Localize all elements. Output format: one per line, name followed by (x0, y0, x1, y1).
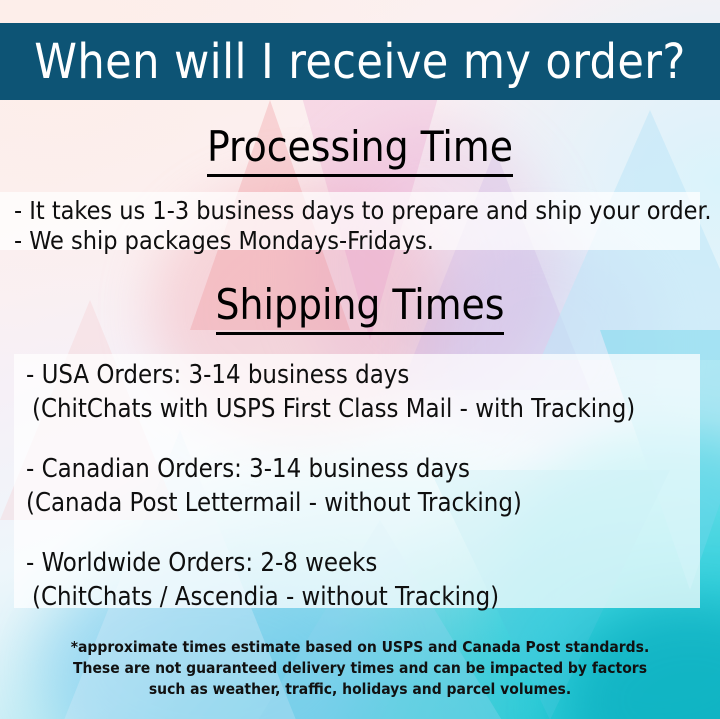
disclaimer-note: *approximate times estimate based on USP… (0, 637, 720, 700)
processing-line: - It takes us 1-3 business days to prepa… (14, 196, 712, 226)
shipping-times-heading-text: Shipping Times (216, 280, 505, 335)
shipping-group-title: - Worldwide Orders: 2-8 weeks (26, 546, 499, 580)
processing-time-lines: - It takes us 1-3 business days to prepa… (14, 196, 712, 256)
shipping-group-detail: (ChitChats / Ascendia - without Tracking… (26, 580, 499, 614)
shipping-group-usa: - USA Orders: 3-14 business days (ChitCh… (26, 358, 635, 426)
shipping-times-heading: Shipping Times (0, 284, 720, 326)
infographic-canvas: When will I receive my order? Processing… (0, 0, 720, 719)
shipping-group-detail: (Canada Post Lettermail - without Tracki… (26, 486, 522, 520)
processing-time-heading: Processing Time (0, 126, 720, 168)
shipping-group-title: - Canadian Orders: 3-14 business days (26, 452, 522, 486)
processing-line: - We ship packages Mondays-Fridays. (14, 226, 712, 256)
disclaimer-line: These are not guaranteed delivery times … (0, 658, 720, 679)
page-title: When will I receive my order? (34, 38, 686, 86)
header-banner: When will I receive my order? (0, 23, 720, 100)
shipping-group-worldwide: - Worldwide Orders: 2-8 weeks (ChitChats… (26, 546, 499, 614)
disclaimer-line: such as weather, traffic, holidays and p… (0, 679, 720, 700)
shipping-group-title: - USA Orders: 3-14 business days (26, 358, 635, 392)
shipping-group-detail: (ChitChats with USPS First Class Mail - … (26, 392, 635, 426)
processing-time-heading-text: Processing Time (207, 122, 513, 177)
disclaimer-line: *approximate times estimate based on USP… (0, 637, 720, 658)
shipping-group-canada: - Canadian Orders: 3-14 business days (C… (26, 452, 522, 520)
